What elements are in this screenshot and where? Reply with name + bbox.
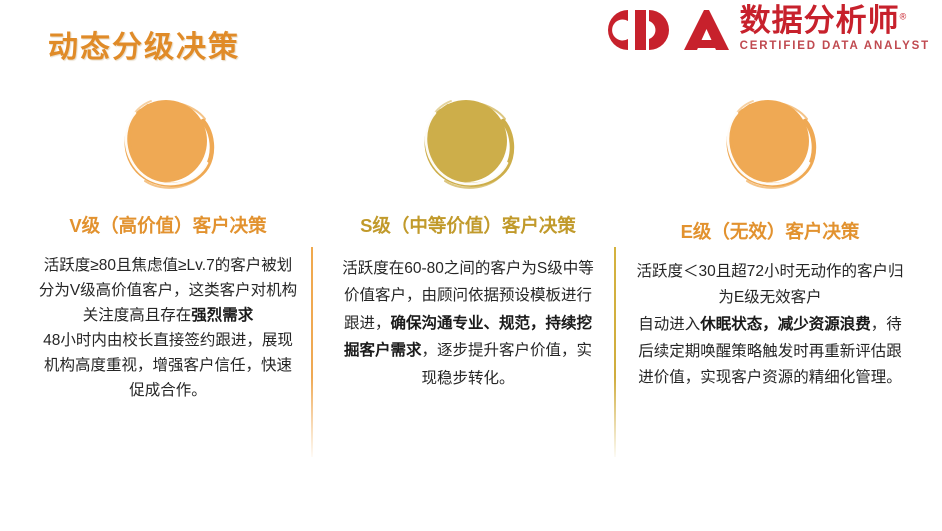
column-v-level: V级（高价值）客户决策 活跃度≥80且焦虑值≥Lv.7的客户被划分为V级高价值客… [18,95,318,403]
text-segment-bold: 强烈需求 [191,307,253,324]
logo-brand-cn: 数据分析师® [740,5,930,38]
column-body-e: 活跃度＜30且超72小时无动作的客户归为E级无效客户 自动进入休眠状态，减少资源… [636,259,904,392]
badge-wrap-v [18,95,318,200]
badge-wrap-e [620,95,920,200]
text-segment-bold: 休眠状态，减少资源浪费 [700,316,871,333]
badge-wrap-s [318,95,618,200]
column-heading-s: S级（中等价值）客户决策 [339,212,597,241]
column-body-v-para-1: 活跃度≥80且焦虑值≥Lv.7的客户被划分为V级高价值客户，这类客户对机构关注度… [37,253,299,328]
column-heading-v: V级（高价值）客户决策 [39,212,297,241]
text-segment: 活跃度≥80且焦虑值≥Lv.7的客户被划分为V级高价值客户，这类客户对机构关注度… [39,257,297,324]
column-body-v: 活跃度≥80且焦虑值≥Lv.7的客户被划分为V级高价值客户，这类客户对机构关注度… [37,253,299,404]
brush-circle-icon [115,95,221,204]
column-body-s-para-1: 活跃度在60-80之间的客户为S级中等价值客户，由顾问依据预设模板进行跟进，确保… [337,255,599,393]
cda-logo: 数据分析师® CERTIFIED DATA ANALYST [588,4,930,62]
text-segment: 自动进入 [638,316,700,333]
registered-icon: ® [900,12,908,22]
logo-tagline: CERTIFIED DATA ANALYST [740,40,930,53]
logo-text-block: 数据分析师® CERTIFIED DATA ANALYST [740,4,930,52]
slide-root: 动态分级决策 数据分析师® CERTIFIED DATA ANALYST [0,0,942,531]
page-title: 动态分级决策 [48,22,240,66]
column-divider-2 [614,247,616,457]
column-s-level: S级（中等价值）客户决策 活跃度在60-80之间的客户为S级中等价值客户，由顾问… [318,95,618,393]
column-body-e-para-2: 自动进入休眠状态，减少资源浪费，待后续定期唤醒策略触发时再重新评估跟进价值，实现… [636,312,904,392]
column-body-s: 活跃度在60-80之间的客户为S级中等价值客户，由顾问依据预设模板进行跟进，确保… [337,255,599,393]
brush-circle-icon [717,95,823,204]
brush-circle-icon [415,95,521,204]
column-body-v-para-2: 48小时内由校长直接签约跟进，展现机构高度重视，增强客户信任，快速促成合作。 [37,328,299,403]
columns-container: V级（高价值）客户决策 活跃度≥80且焦虑值≥Lv.7的客户被划分为V级高价值客… [0,95,942,495]
text-segment: ，逐步提升客户价值，实现稳步转化。 [421,342,592,387]
column-body-e-para-1: 活跃度＜30且超72小时无动作的客户归为E级无效客户 [636,259,904,312]
column-divider-1 [311,247,313,457]
cda-wordmark-icon [588,4,736,61]
column-heading-e: E级（无效）客户决策 [641,218,899,247]
column-e-level: E级（无效）客户决策 活跃度＜30且超72小时无动作的客户归为E级无效客户 自动… [620,95,920,392]
